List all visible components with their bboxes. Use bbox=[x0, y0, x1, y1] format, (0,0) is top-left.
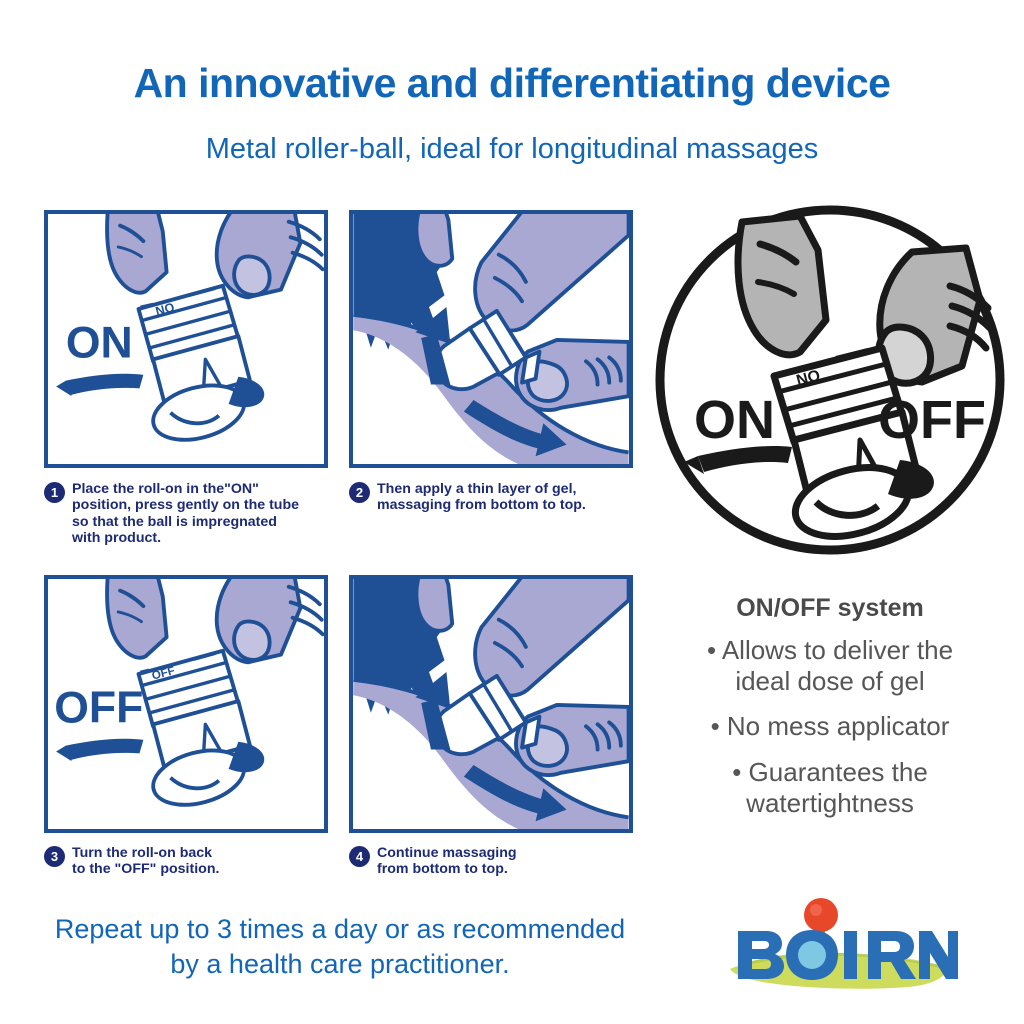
illustration-panel-3: OFF OFF bbox=[44, 575, 328, 833]
emblem-off-label: OFF bbox=[878, 390, 986, 450]
caption-text-2: Then apply a thin layer of gel, massagin… bbox=[377, 481, 586, 514]
hand-right-illustration bbox=[217, 579, 323, 662]
rollon-device-illustration: OFF bbox=[139, 651, 265, 814]
logo-registered-mark: ® bbox=[948, 931, 956, 942]
illustration-panel-2 bbox=[349, 210, 633, 468]
footer-note: Repeat up to 3 times a day or as recomme… bbox=[20, 912, 660, 981]
step-badge-1: 1 bbox=[44, 482, 65, 503]
benefit-item-1: • Allows to deliver the ideal dose of ge… bbox=[650, 635, 1010, 697]
rotation-arrow-icon bbox=[56, 739, 143, 761]
system-title: ON/OFF system bbox=[650, 594, 1010, 623]
caption-step-3: 3 Turn the roll-on back to the "OFF" pos… bbox=[44, 845, 336, 878]
emblem-on-label: ON bbox=[694, 390, 775, 450]
boiron-logo: ® bbox=[722, 893, 958, 997]
benefits-list: • Allows to deliver the ideal dose of ge… bbox=[650, 635, 1010, 833]
illustration-panel-4 bbox=[349, 575, 633, 833]
illustration-panel-1: NO ON bbox=[44, 210, 328, 468]
hand-left-illustration bbox=[107, 214, 167, 293]
page-subtitle: Metal roller-ball, ideal for longitudina… bbox=[0, 133, 1024, 166]
caption-text-4: Continue massaging from bottom to top. bbox=[377, 845, 517, 878]
caption-step-2: 2 Then apply a thin layer of gel, massag… bbox=[349, 481, 641, 514]
caption-step-4: 4 Continue massaging from bottom to top. bbox=[349, 845, 641, 878]
infographic-page: An innovative and differentiating device… bbox=[0, 0, 1024, 1024]
logo-wordmark bbox=[738, 930, 958, 980]
logo-o-fill bbox=[798, 941, 826, 969]
hand-left-illustration bbox=[107, 579, 167, 658]
rotation-arrow-icon bbox=[56, 374, 143, 396]
caption-text-3: Turn the roll-on back to the "OFF" posit… bbox=[72, 845, 219, 878]
step-badge-3: 3 bbox=[44, 846, 65, 867]
panel1-on-label: ON bbox=[66, 318, 133, 367]
caption-text-1: Place the roll-on in the"ON" position, p… bbox=[72, 481, 299, 547]
step-badge-4: 4 bbox=[349, 846, 370, 867]
benefit-item-2: • No mess applicator bbox=[650, 711, 1010, 742]
rollon-device-illustration: NO bbox=[139, 286, 265, 449]
step-badge-2: 2 bbox=[349, 482, 370, 503]
panel3-off-label: OFF bbox=[54, 683, 143, 732]
logo-ball bbox=[804, 898, 838, 932]
page-title: An innovative and differentiating device bbox=[0, 62, 1024, 105]
benefit-item-3: • Guarantees the watertightness bbox=[650, 757, 1010, 819]
on-off-emblem: NO ON OFF bbox=[650, 200, 1010, 560]
caption-step-1: 1 Place the roll-on in the"ON" position,… bbox=[44, 481, 336, 547]
hand-right-illustration bbox=[217, 214, 323, 297]
